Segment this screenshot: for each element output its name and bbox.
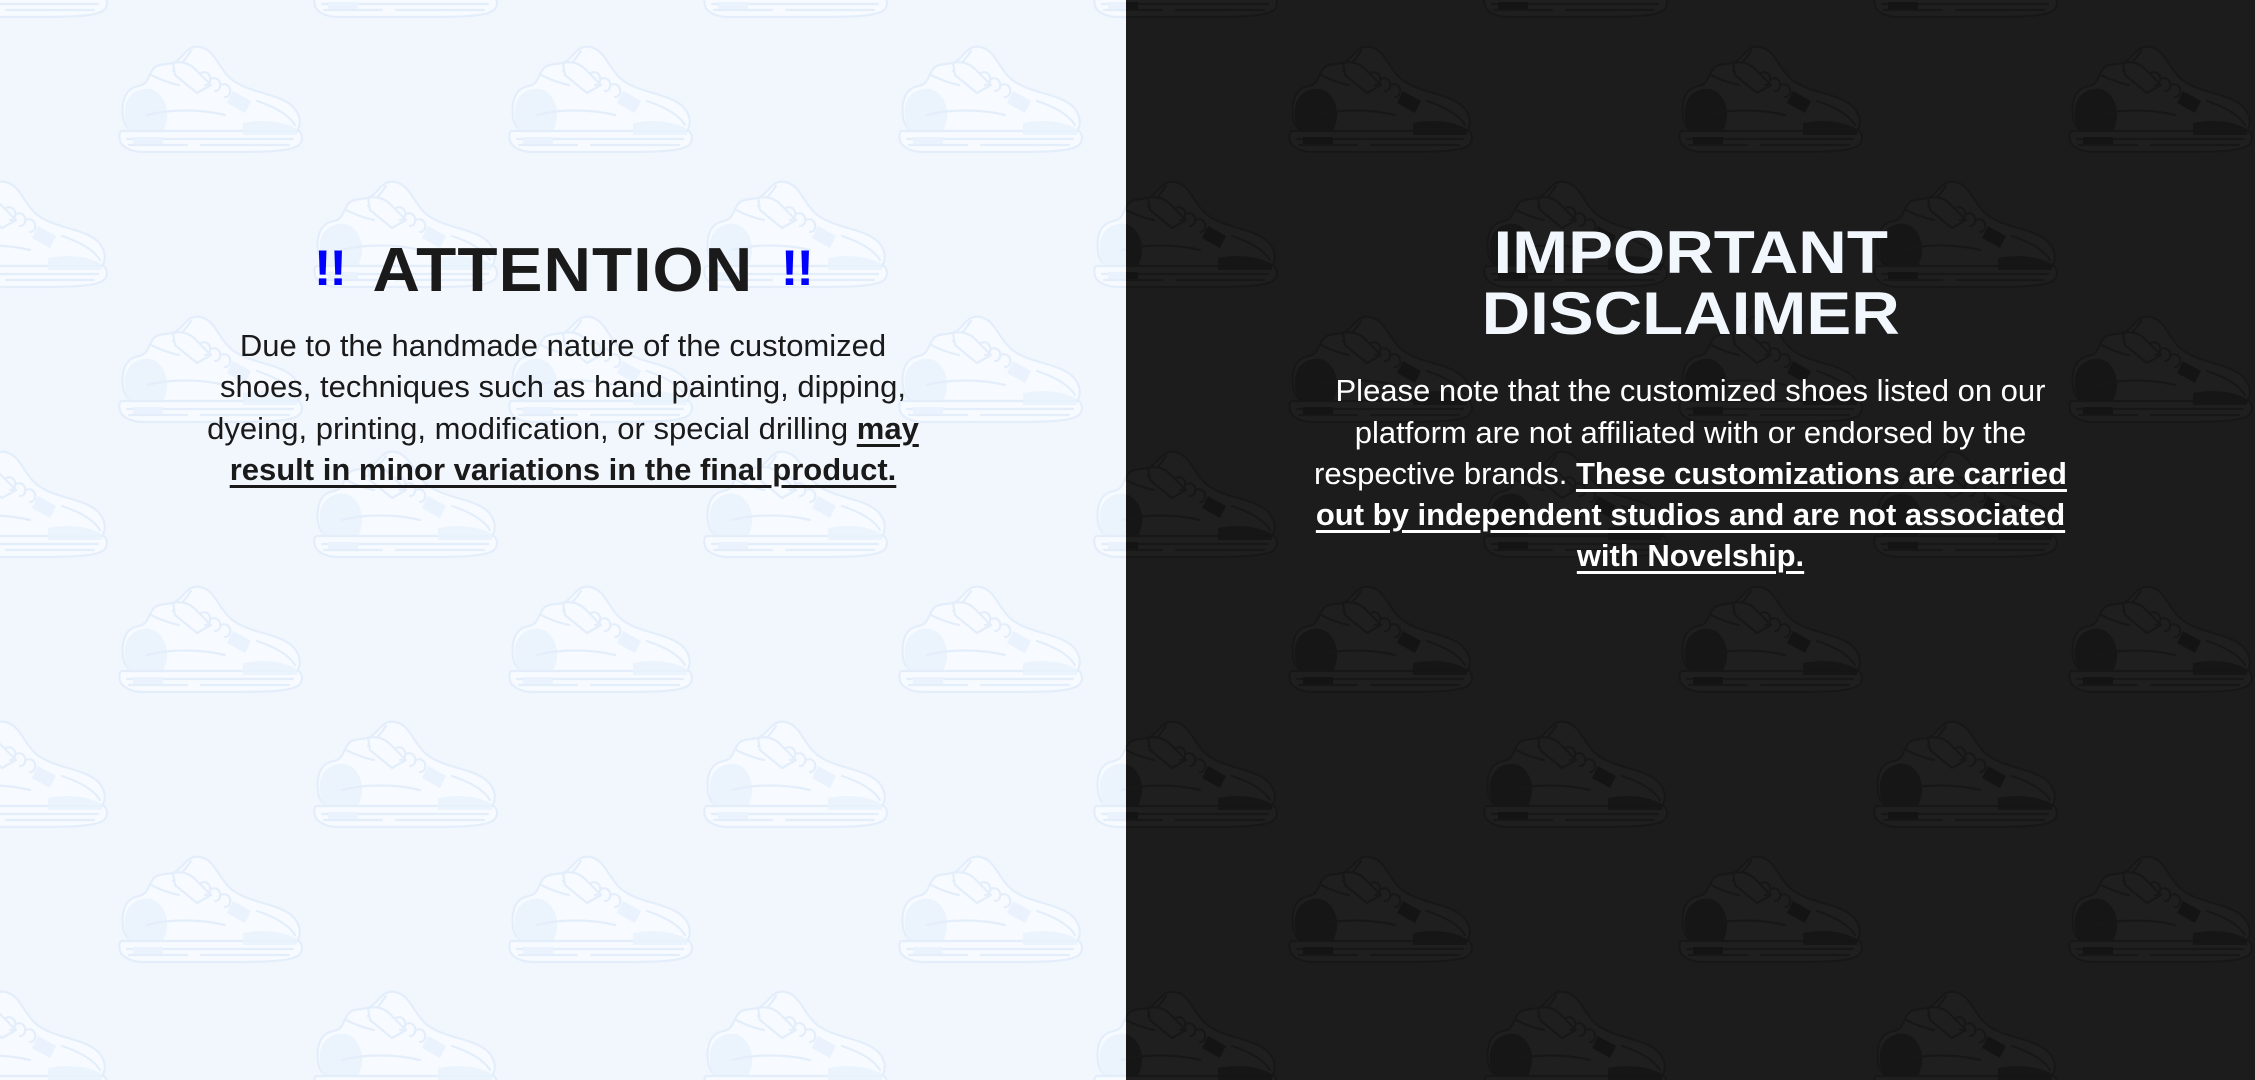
attention-heading-text: ATTENTION	[373, 238, 754, 303]
attention-heading: !! ATTENTION !!	[314, 238, 812, 303]
disclaimer-banner: !! ATTENTION !! Due to the handmade natu…	[0, 0, 2255, 1080]
sneaker-pattern-light	[0, 0, 1126, 1080]
attention-body-normal: Due to the handmade nature of the custom…	[207, 328, 906, 445]
disclaimer-content: IMPORTANT DISCLAIMER Please note that th…	[1126, 222, 2255, 576]
disclaimer-heading-line2: DISCLAIMER	[1481, 283, 1899, 344]
disclaimer-body: Please note that the customized shoes li…	[1296, 370, 2086, 576]
disclaimer-panel: IMPORTANT DISCLAIMER Please note that th…	[1126, 0, 2255, 1080]
double-exclamation-mark-icon-right: !!	[781, 242, 812, 295]
attention-content: !! ATTENTION !! Due to the handmade natu…	[0, 238, 1126, 490]
attention-body: Due to the handmade nature of the custom…	[193, 325, 933, 490]
disclaimer-heading-line1: IMPORTANT	[1493, 222, 1887, 283]
disclaimer-heading: IMPORTANT DISCLAIMER	[1481, 222, 1899, 344]
attention-panel: !! ATTENTION !! Due to the handmade natu…	[0, 0, 1126, 1080]
double-exclamation-mark-icon-left: !!	[314, 242, 345, 295]
